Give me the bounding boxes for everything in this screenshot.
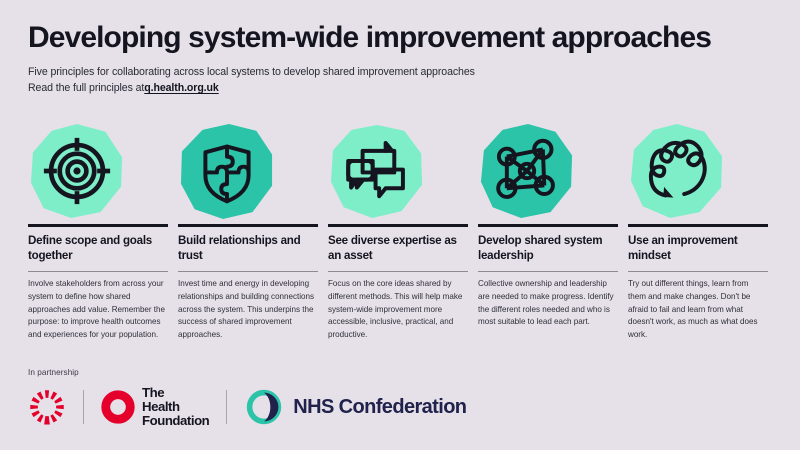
card-divider [28,271,168,272]
partner-logos: The Health Foundation NHS Confederation [28,386,466,428]
card-top-rule: Define scope and goals together [28,224,168,264]
card-body: Involve stakeholders from across your sy… [28,278,166,342]
card-title: Develop shared system leadership [478,234,618,264]
health-foundation-logo[interactable]: The Health Foundation [101,386,209,428]
icon-blob-2 [178,118,328,224]
target-icon [41,135,113,207]
health-foundation-wordmark: The Health Foundation [142,386,209,428]
infographic-page: Developing system-wide improvement appro… [0,0,800,450]
card-title: Use an improvement mindset [628,234,768,264]
subtitle-block: Five principles for collaborating across… [28,64,772,96]
hf-line-2: Health [142,400,209,414]
hf-line-3: Foundation [142,414,209,428]
principle-card-1: Define scope and goals together Involve … [28,118,178,342]
improvement-loop-icon [641,135,713,207]
card-body: Focus on the core ideas shared by differ… [328,278,466,342]
q-logo[interactable] [28,388,66,426]
page-title: Developing system-wide improvement appro… [28,22,772,54]
principle-card-3: See diverse expertise as an asset Focus … [328,118,478,342]
footer: In partnership [28,368,466,428]
partnership-label: In partnership [28,368,466,377]
card-divider [178,271,318,272]
card-body: Collective ownership and leadership are … [478,278,616,329]
icon-blob-3 [328,118,478,224]
card-top-rule: Build relationships and trust [178,224,318,264]
card-divider [628,271,768,272]
icon-blob-5 [628,118,780,224]
ring-icon [101,390,135,424]
card-top-rule: Use an improvement mindset [628,224,768,264]
subtitle-line-2: Read the full principles at q.health.org… [28,80,772,96]
network-nodes-icon [491,135,563,207]
card-top-rule: See diverse expertise as an asset [328,224,468,264]
crescent-ring-icon [244,387,284,427]
principle-card-5: Use an improvement mindset Try out diffe… [628,118,780,342]
subtitle-line-2-prefix: Read the full principles at [28,80,144,96]
puzzle-shield-icon [191,135,263,207]
icon-blob-1 [28,118,178,224]
card-divider [328,271,468,272]
principle-card-4: Develop shared system leadership Collect… [478,118,628,342]
card-divider [478,271,618,272]
header: Developing system-wide improvement appro… [28,0,772,97]
card-title: Build relationships and trust [178,234,318,264]
card-body: Try out different things, learn from the… [628,278,766,342]
icon-blob-4 [478,118,628,224]
subtitle-line-1: Five principles for collaborating across… [28,64,772,80]
logo-divider-1 [83,390,84,424]
q-segmented-circle-icon [28,388,66,426]
card-title: See diverse expertise as an asset [328,234,468,264]
logo-divider-2 [226,390,227,424]
principle-card-2: Build relationships and trust Invest tim… [178,118,328,342]
nhs-confederation-wordmark: NHS Confederation [293,396,466,419]
card-title: Define scope and goals together [28,234,168,264]
hf-line-1: The [142,386,209,400]
card-top-rule: Develop shared system leadership [478,224,618,264]
card-body: Invest time and energy in developing rel… [178,278,316,342]
principles-row: Define scope and goals together Involve … [28,118,776,342]
nhs-confederation-logo[interactable]: NHS Confederation [244,387,466,427]
principles-link[interactable]: q.health.org.uk [144,80,218,96]
speech-bubbles-icon [341,135,413,207]
